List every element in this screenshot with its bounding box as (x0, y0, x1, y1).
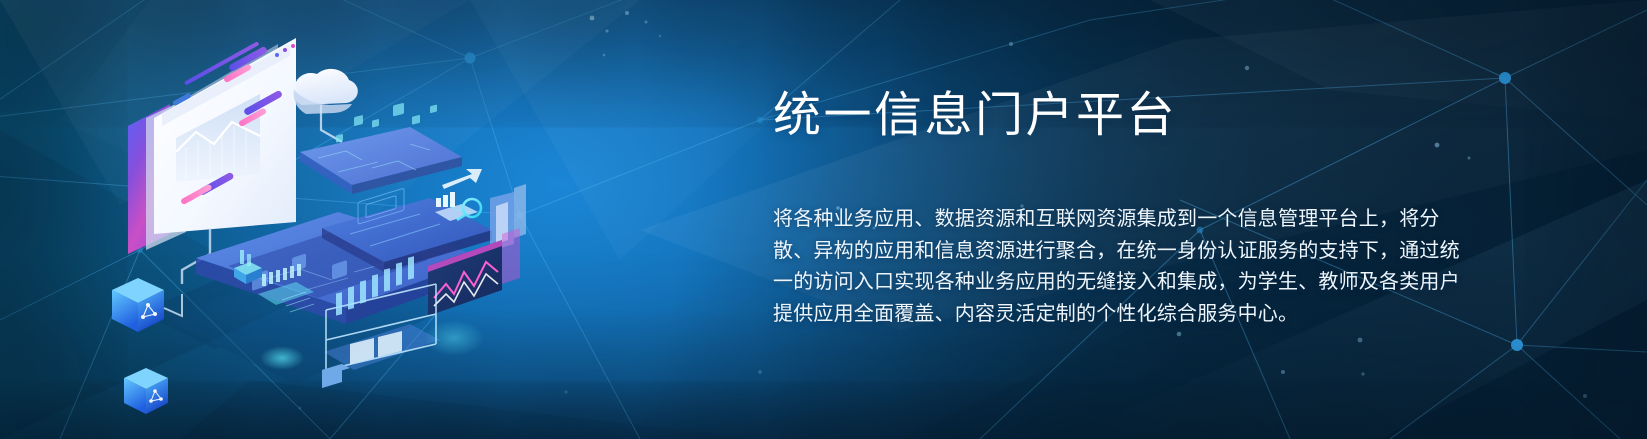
network-cube-icon-lower (124, 368, 168, 414)
cloud-icon (293, 69, 358, 142)
isometric-platform-illustration (110, 22, 530, 422)
glow-right (424, 320, 484, 356)
circuit-board-panel (300, 103, 462, 194)
hero-banner: 统一信息门户平台 将各种业务应用、数据资源和互联网资源集成到一个信息管理平台上，… (0, 0, 1647, 439)
magnifier-analytics-icon (435, 169, 482, 221)
glow-left (260, 346, 304, 370)
